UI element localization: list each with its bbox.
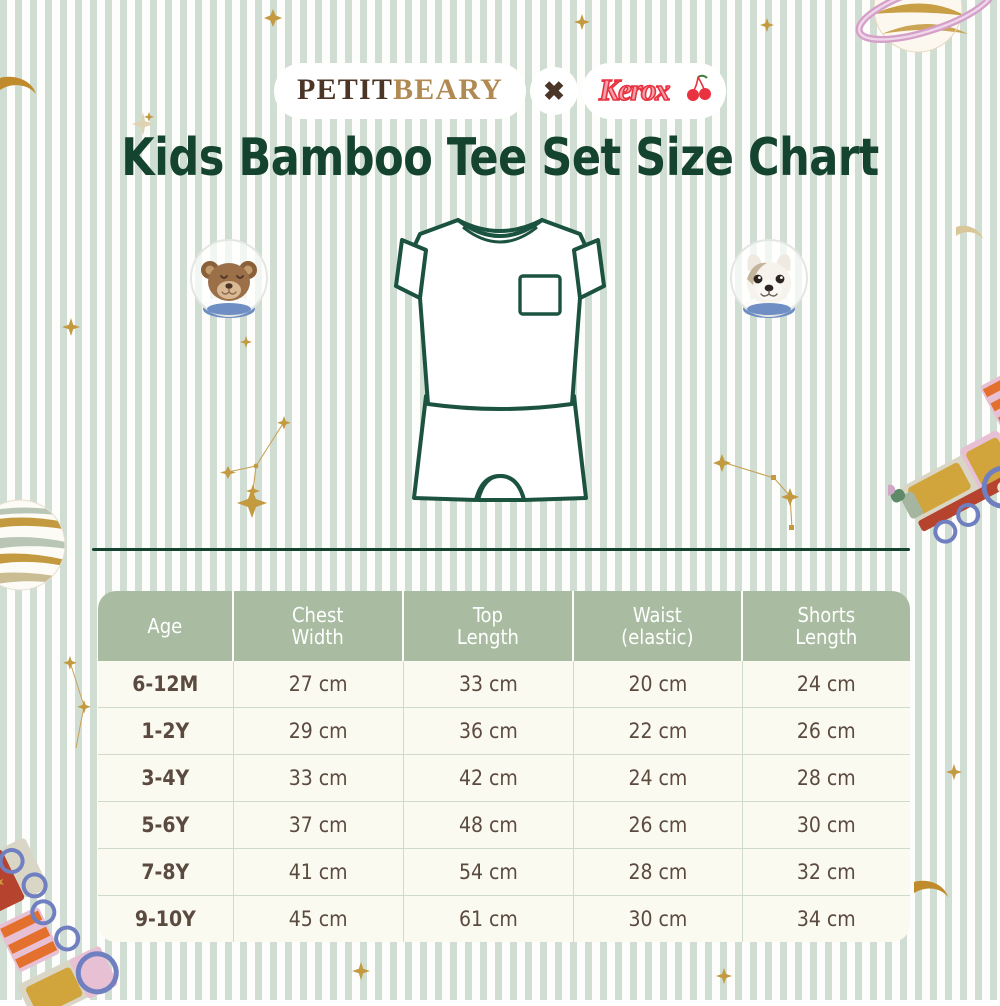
cell-shorts: 32 cm xyxy=(743,849,910,896)
cell-top: 33 cm xyxy=(404,661,574,708)
table-row: 1-2Y 29 cm 36 cm 22 cm 26 cm xyxy=(98,708,910,755)
cell-waist: 28 cm xyxy=(574,849,743,896)
page-title: Kids Bamboo Tee Set Size Chart xyxy=(40,128,960,188)
cell-top: 48 cm xyxy=(404,802,574,849)
column-header-chest-line1: Chest xyxy=(234,604,402,626)
cell-shorts: 24 cm xyxy=(743,661,910,708)
cell-chest: 37 cm xyxy=(234,802,404,849)
table-header-row: Age Chest Width Top Length Waist (elasti… xyxy=(98,591,910,661)
cell-waist: 26 cm xyxy=(574,802,743,849)
cell-chest: 33 cm xyxy=(234,755,404,802)
cell-age: 3-4Y xyxy=(98,755,234,802)
cell-waist: 20 cm xyxy=(574,661,743,708)
cell-shorts: 28 cm xyxy=(743,755,910,802)
table-row: 3-4Y 33 cm 42 cm 24 cm 28 cm xyxy=(98,755,910,802)
column-header-shorts-length: Shorts Length xyxy=(743,591,910,661)
cell-age: 6-12M xyxy=(98,661,234,708)
cell-waist: 24 cm xyxy=(574,755,743,802)
table-row: 6-12M 27 cm 33 cm 20 cm 24 cm xyxy=(98,661,910,708)
size-chart-header: Age Chest Width Top Length Waist (elasti… xyxy=(98,591,910,661)
table-row: 7-8Y 41 cm 54 cm 28 cm 32 cm xyxy=(98,849,910,896)
bear-astronaut-avatar xyxy=(188,237,270,325)
french-bulldog-astronaut-avatar xyxy=(728,237,810,325)
cell-waist: 22 cm xyxy=(574,708,743,755)
petitbeary-logo-part1: PETIT xyxy=(297,73,393,106)
column-header-waist-line2: (elastic) xyxy=(574,626,741,648)
column-header-age: Age xyxy=(98,591,234,661)
column-header-top-line2: Length xyxy=(404,626,572,648)
column-header-top-length: Top Length xyxy=(404,591,574,661)
cell-age: 5-6Y xyxy=(98,802,234,849)
petitbeary-logo-part2: BEARY xyxy=(393,73,503,106)
column-header-shorts-line1: Shorts xyxy=(743,604,910,626)
cell-chest: 29 cm xyxy=(234,708,404,755)
size-chart-body: 6-12M 27 cm 33 cm 20 cm 24 cm 1-2Y 29 cm… xyxy=(98,661,910,942)
column-header-top-line1: Top xyxy=(404,604,572,626)
brand-logo-row: PETITBEARY ✖ Kerox xyxy=(0,62,1000,120)
cell-top: 36 cm xyxy=(404,708,574,755)
kerox-logo-badge: Kerox xyxy=(585,66,723,116)
column-header-chest-width: Chest Width xyxy=(234,591,404,661)
cell-age: 1-2Y xyxy=(98,708,234,755)
kerox-logo-wrap: Kerox xyxy=(599,72,709,110)
petitbeary-logo-badge: PETITBEARY xyxy=(277,66,523,116)
cell-top: 54 cm xyxy=(404,849,574,896)
size-chart-table: Age Chest Width Top Length Waist (elasti… xyxy=(98,591,910,942)
cell-age: 9-10Y xyxy=(98,896,234,942)
cell-shorts: 26 cm xyxy=(743,708,910,755)
kerox-logo-text: Kerox xyxy=(599,74,669,105)
cell-chest: 41 cm xyxy=(234,849,404,896)
petitbeary-logo-text: PETITBEARY xyxy=(297,75,503,105)
cherry-icon xyxy=(685,74,711,104)
cell-shorts: 30 cm xyxy=(743,802,910,849)
tee-and-shorts-illustration xyxy=(368,198,632,518)
collab-cross-badge: ✖ xyxy=(533,70,575,112)
column-header-shorts-line2: Length xyxy=(743,626,910,648)
cell-age: 7-8Y xyxy=(98,849,234,896)
section-divider xyxy=(92,548,910,551)
cell-top: 42 cm xyxy=(404,755,574,802)
cell-chest: 27 cm xyxy=(234,661,404,708)
cell-top: 61 cm xyxy=(404,896,574,942)
cell-chest: 45 cm xyxy=(234,896,404,942)
table-row: 9-10Y 45 cm 61 cm 30 cm 34 cm xyxy=(98,896,910,942)
column-header-age-line1: Age xyxy=(98,615,232,637)
column-header-waist: Waist (elastic) xyxy=(574,591,743,661)
collab-cross-icon: ✖ xyxy=(543,78,565,104)
column-header-waist-line1: Waist xyxy=(574,604,741,626)
cell-shorts: 34 cm xyxy=(743,896,910,942)
cell-waist: 30 cm xyxy=(574,896,743,942)
table-row: 5-6Y 37 cm 48 cm 26 cm 30 cm xyxy=(98,802,910,849)
column-header-chest-line2: Width xyxy=(234,626,402,648)
